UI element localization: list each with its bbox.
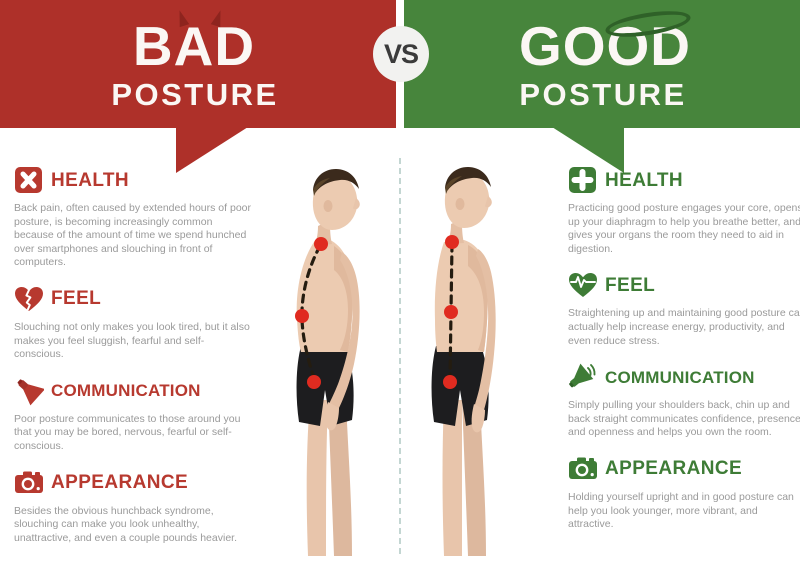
bad-section-feel-body: Slouching not only makes you look tired,…	[14, 321, 252, 362]
good-section-communication-title: COMMUNICATION	[605, 369, 755, 386]
x-mark-icon	[14, 165, 44, 195]
good-section-communication: COMMUNICATION Simply pulling your should…	[568, 360, 800, 440]
bad-section-communication-body: Poor posture communicates to those aroun…	[14, 413, 252, 454]
bad-section-appearance-title: APPEARANCE	[51, 473, 188, 492]
bad-posture-column: HEALTH Back pain, often caused by extend…	[14, 163, 252, 557]
bad-section-appearance: APPEARANCE Besides the obvious hunchback…	[14, 466, 252, 546]
bad-section-communication: COMMUNICATION Poor posture communicates …	[14, 374, 252, 454]
megaphone-down-icon	[14, 376, 44, 406]
broken-heart-icon	[14, 284, 44, 314]
spine-marker	[295, 309, 309, 323]
heartbeat-icon	[568, 270, 598, 300]
bad-section-health-title: HEALTH	[51, 171, 129, 190]
bad-section-health-body: Back pain, often caused by extended hour…	[14, 202, 252, 270]
spine-marker	[445, 235, 459, 249]
upright-posture-figure	[404, 150, 532, 556]
bad-section-communication-title: COMMUNICATION	[51, 382, 201, 399]
camera-icon	[14, 468, 44, 498]
good-section-health-body: Practicing good posture engages your cor…	[568, 202, 800, 256]
spine-marker	[444, 305, 458, 319]
bad-title-main: BAD	[133, 19, 255, 74]
bad-section-appearance-body: Besides the obvious hunchback syndrome, …	[14, 505, 252, 546]
good-title-sub: POSTURE	[519, 79, 686, 110]
good-section-appearance: APPEARANCE Holding yourself upright and …	[568, 452, 800, 532]
bad-posture-title-block: BAD POSTURE	[0, 0, 400, 128]
good-posture-title-block: GOOD POSTURE	[400, 0, 800, 128]
spine-marker	[314, 237, 328, 251]
good-section-appearance-title: APPEARANCE	[605, 459, 742, 478]
good-title-main: GOOD	[519, 19, 691, 74]
spine-marker	[307, 375, 321, 389]
posture-illustration	[268, 150, 532, 556]
bad-section-health: HEALTH Back pain, often caused by extend…	[14, 163, 252, 270]
good-section-health: HEALTH Practicing good posture engages y…	[568, 163, 800, 256]
vs-badge: VS	[373, 26, 429, 82]
bad-section-feel: FEEL Slouching not only makes you look t…	[14, 282, 252, 362]
good-section-appearance-body: Holding yourself upright and in good pos…	[568, 491, 800, 532]
bad-section-feel-title: FEEL	[51, 289, 101, 308]
slouched-posture-figure	[268, 150, 396, 556]
good-section-health-title: HEALTH	[605, 171, 683, 190]
bad-title-sub: POSTURE	[111, 79, 278, 110]
header-banner: BAD POSTURE GOOD POSTURE VS	[0, 0, 800, 128]
good-section-feel: FEEL Straightening up and maintaining go…	[568, 268, 800, 348]
halo-icon	[604, 6, 692, 41]
megaphone-up-icon	[568, 362, 598, 392]
figure-divider-dashed-line	[399, 158, 401, 554]
medical-cross-icon	[568, 165, 598, 195]
camera-icon	[568, 454, 598, 484]
good-section-communication-body: Simply pulling your shoulders back, chin…	[568, 399, 800, 440]
devil-horns-icon	[177, 10, 233, 26]
good-section-feel-title: FEEL	[605, 276, 655, 295]
good-posture-column: HEALTH Practicing good posture engages y…	[568, 163, 800, 544]
good-section-feel-body: Straightening up and maintaining good po…	[568, 307, 800, 348]
spine-marker	[443, 375, 457, 389]
